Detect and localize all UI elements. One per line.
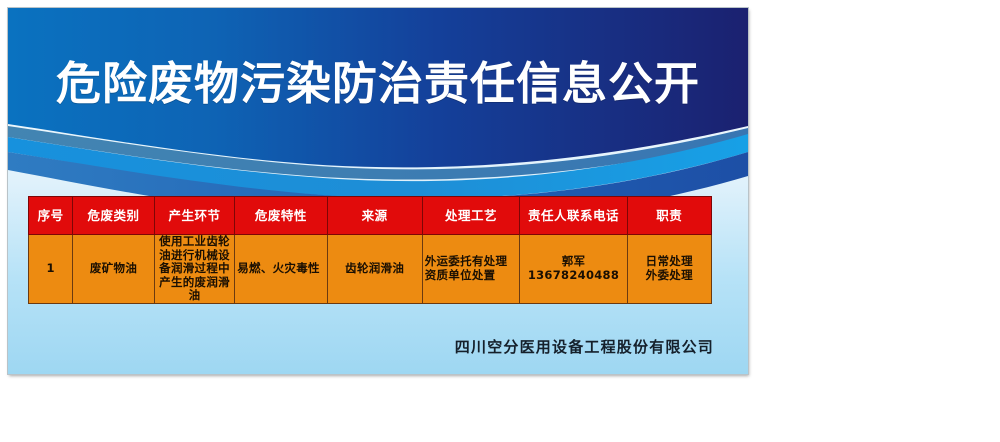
page-title: 危险废物污染防治责任信息公开 <box>8 55 748 113</box>
contact-name: 郭军 <box>522 255 624 269</box>
hazardous-waste-table: 序号 危废类别 产生环节 危废特性 来源 处理工艺 责任人联系电话 职责 1 废… <box>28 196 712 304</box>
table-row: 1 废矿物油 使用工业齿轮油进行机械设备润滑过程中产生的废润滑油 易燃、火灾毒性… <box>29 235 712 304</box>
cell-source: 齿轮润滑油 <box>327 235 422 304</box>
col-header-source: 来源 <box>327 197 422 235</box>
cell-hazard-property: 易燃、火灾毒性 <box>235 235 327 304</box>
col-header-treatment: 处理工艺 <box>422 197 520 235</box>
cell-index: 1 <box>29 235 73 304</box>
contact-phone: 13678240488 <box>522 269 624 283</box>
col-header-property: 危废特性 <box>235 197 327 235</box>
cell-generation-step: 使用工业齿轮油进行机械设备润滑过程中产生的废润滑油 <box>154 235 234 304</box>
col-header-category: 危废类别 <box>73 197 155 235</box>
col-header-index: 序号 <box>29 197 73 235</box>
cell-category: 废矿物油 <box>73 235 155 304</box>
hazardous-waste-disclosure-poster: 危险废物污染防治责任信息公开 序号 危废类别 产生环节 危废特性 来源 <box>8 8 748 374</box>
col-header-duty: 职责 <box>627 197 711 235</box>
cell-contact: 郭军 13678240488 <box>520 235 627 304</box>
col-header-contact: 责任人联系电话 <box>520 197 627 235</box>
col-header-step: 产生环节 <box>154 197 234 235</box>
screenshot-canvas: 危险废物污染防治责任信息公开 序号 危废类别 产生环节 危废特性 来源 <box>0 0 1000 442</box>
company-name: 四川空分医用设备工程股份有限公司 <box>8 336 714 357</box>
cell-treatment-process: 外运委托有处理资质单位处置 <box>422 235 520 304</box>
cell-duty: 日常处理 外委处理 <box>627 235 711 304</box>
table-header-row: 序号 危废类别 产生环节 危废特性 来源 处理工艺 责任人联系电话 职责 <box>29 197 712 235</box>
